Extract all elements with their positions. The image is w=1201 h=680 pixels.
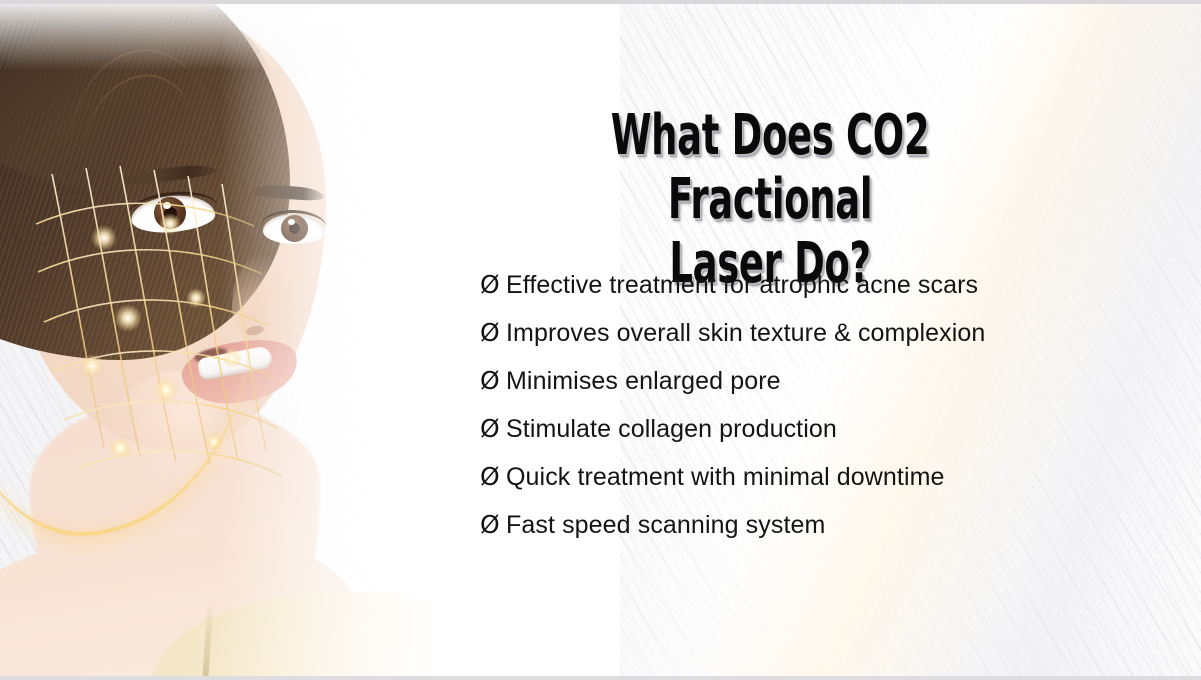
bullet-marker-icon: Ø [480,416,506,441]
model-photo [0,0,470,680]
list-item-label: Stimulate collagen production [506,417,837,442]
list-item: Ø Improves overall skin texture & comple… [480,320,1120,368]
bullet-marker-icon: Ø [480,320,506,345]
list-item-label: Fast speed scanning system [506,513,825,538]
list-item-label: Quick treatment with minimal downtime [506,465,945,490]
list-item-label: Effective treatment for atrophic acne sc… [506,273,978,298]
bullet-marker-icon: Ø [480,272,506,297]
bullet-marker-icon: Ø [480,464,506,489]
bottom-edge-strip [0,676,1201,680]
list-item: Ø Stimulate collagen production [480,416,1120,464]
list-item-label: Improves overall skin texture & complexi… [506,321,985,346]
list-item: Ø Effective treatment for atrophic acne … [480,272,1120,320]
list-item: Ø Fast speed scanning system [480,512,1120,560]
bullet-marker-icon: Ø [480,368,506,393]
page-title: What Does CO2 Fractional Laser Do? [552,104,988,296]
bullet-marker-icon: Ø [480,512,506,537]
list-item: Ø Quick treatment with minimal downtime [480,464,1120,512]
promo-banner: What Does CO2 Fractional Laser Do? Ø Eff… [0,0,1201,680]
list-item: Ø Minimises enlarged pore [480,368,1120,416]
top-edge-strip [0,0,1201,4]
photo-top-fade [0,0,470,70]
photo-right-fade [220,0,470,680]
list-item-label: Minimises enlarged pore [506,369,781,394]
benefits-list: Ø Effective treatment for atrophic acne … [480,272,1120,560]
content-column: What Does CO2 Fractional Laser Do? Ø Eff… [440,0,1160,680]
